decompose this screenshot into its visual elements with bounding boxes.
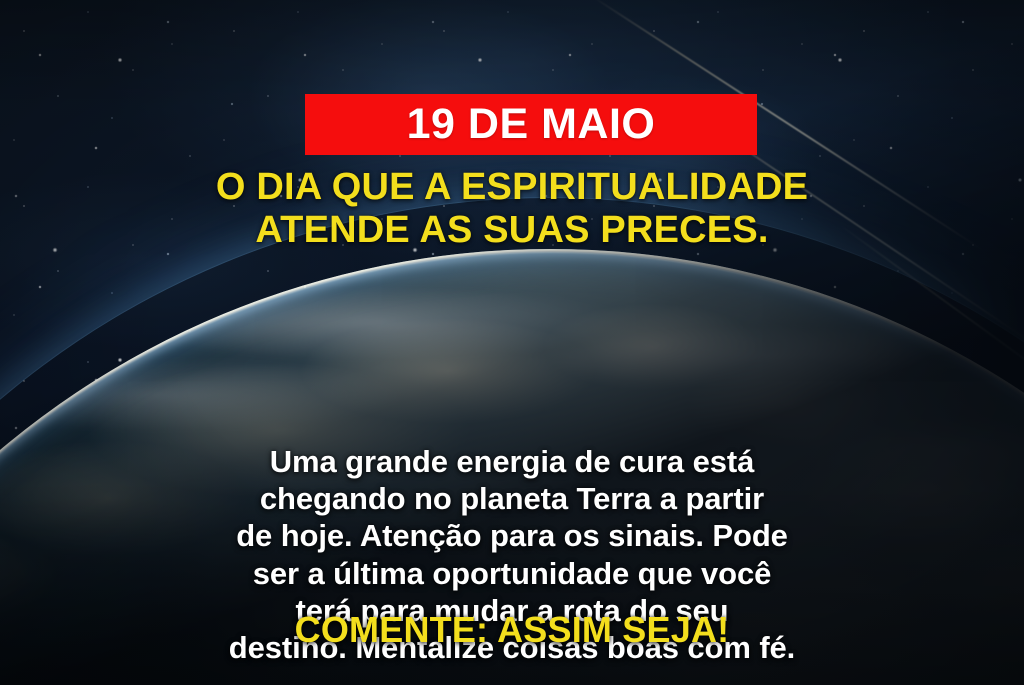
- headline-line-1: O DIA QUE A ESPIRITUALIDADE: [0, 166, 1024, 209]
- poster-content: 19 DE MAIO O DIA QUE A ESPIRITUALIDADE A…: [0, 0, 1024, 685]
- body-line-4: ser a última oportunidade que você: [0, 555, 1024, 592]
- date-banner: 19 DE MAIO: [305, 94, 757, 155]
- headline: O DIA QUE A ESPIRITUALIDADE ATENDE AS SU…: [0, 166, 1024, 251]
- body-line-1: Uma grande energia de cura está: [0, 443, 1024, 480]
- body-line-3: de hoje. Atenção para os sinais. Pode: [0, 517, 1024, 554]
- headline-line-2: ATENDE AS SUAS PRECES.: [0, 209, 1024, 252]
- call-to-action-text: COMENTE: ASSIM SEJA!: [0, 612, 1024, 648]
- date-banner-text: 19 DE MAIO: [407, 103, 656, 146]
- body-line-2: chegando no planeta Terra a partir: [0, 480, 1024, 517]
- poster-canvas: 19 DE MAIO O DIA QUE A ESPIRITUALIDADE A…: [0, 0, 1024, 685]
